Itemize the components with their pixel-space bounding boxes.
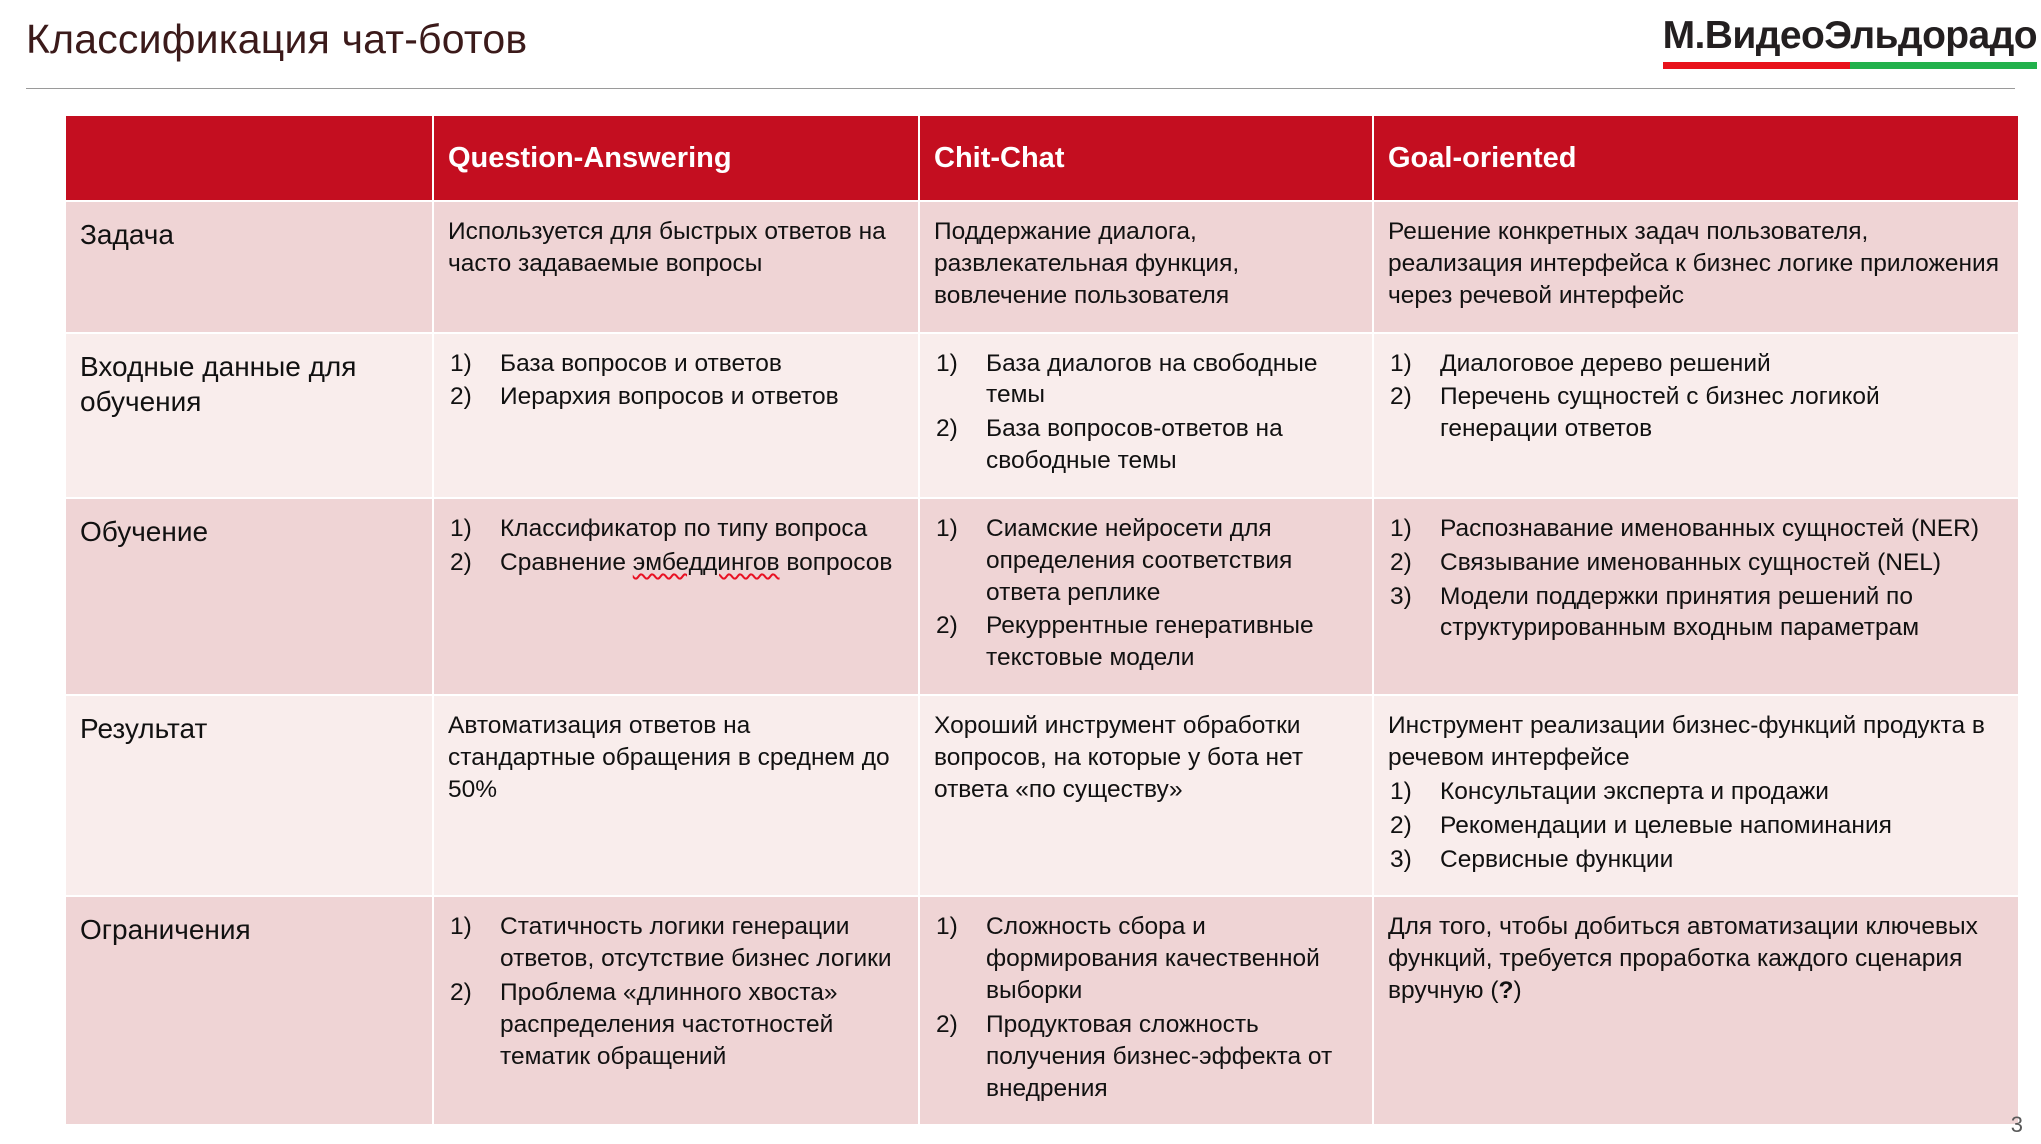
list-item-text: Связывание именованных сущностей (NEL): [1440, 549, 1941, 576]
row-label-2: Входные данные для обучения: [66, 334, 432, 497]
header-divider: [26, 88, 2015, 89]
list-item-marker: 1): [450, 513, 494, 545]
table-row: РезультатАвтоматизация ответов на станда…: [66, 696, 2018, 895]
list-item-text: Распознавание именованных сущностей (NER…: [1440, 515, 1979, 542]
brand-name: М.ВидеоЭльдорадо: [1663, 16, 2037, 55]
list-item-text: База вопросов и ответов: [500, 350, 782, 377]
list-item-text: Продуктовая сложность получения бизнес-э…: [986, 1011, 1332, 1102]
table-body: ЗадачаИспользуется для быстрых ответов н…: [66, 202, 2018, 1124]
list-item: 2)Рекуррентные генеративные текстовые мо…: [934, 610, 1358, 674]
list-item-text: Перечень сущностей с бизнес логикой гене…: [1440, 383, 1880, 442]
list-item: 1)Сиамские нейросети для определения соо…: [934, 513, 1358, 609]
list-item: 2)Продуктовая сложность получения бизнес…: [934, 1009, 1358, 1105]
list-item: 2)База вопросов-ответов на свободные тем…: [934, 413, 1358, 477]
comparison-table-container: Question-Answering Chit-Chat Goal-orient…: [64, 114, 2010, 1126]
cell-chit-chat-row4: Хороший инструмент обработки вопросов, н…: [920, 696, 1372, 895]
brand-bar-red-segment: [1663, 62, 1850, 69]
column-header-chit-chat: Chit-Chat: [920, 116, 1372, 200]
list-item-marker: 1): [1390, 348, 1434, 380]
chatbot-classification-table: Question-Answering Chit-Chat Goal-orient…: [64, 114, 2020, 1126]
list-item-marker: 3): [1390, 581, 1434, 613]
numbered-list: 1)Диалоговое дерево решений2)Перечень су…: [1388, 348, 2004, 446]
list-item-marker: 2): [450, 547, 494, 579]
list-item-marker: 1): [1390, 513, 1434, 545]
cell-chit-chat-row5: 1)Сложность сбора и формирования качеств…: [920, 897, 1372, 1124]
list-item-marker: 1): [936, 348, 980, 380]
list-item-text: Рекуррентные генеративные текстовые моде…: [986, 612, 1314, 671]
list-item-marker: 2): [936, 413, 980, 445]
row-label-1: Задача: [66, 202, 432, 332]
list-item-marker: 2): [936, 1009, 980, 1041]
cell-chit-chat-row3: 1)Сиамские нейросети для определения соо…: [920, 499, 1372, 694]
list-item-text: Классификатор по типу вопроса: [500, 515, 867, 542]
column-header-goal-oriented: Goal-oriented: [1374, 116, 2018, 200]
list-item: 1)Консультации эксперта и продажи: [1388, 776, 2004, 808]
list-item-marker: 2): [936, 610, 980, 642]
list-item: 3)Сервисные функции: [1388, 844, 2004, 876]
cell-goal-oriented-row4: Инструмент реализации бизнес-функций про…: [1374, 696, 2018, 895]
numbered-list: 1)База вопросов и ответов2)Иерархия вопр…: [448, 348, 904, 414]
brand-logo: М.ВидеоЭльдорадо: [1663, 16, 2037, 69]
list-item-marker: 2): [1390, 381, 1434, 413]
cell-paragraph: Решение конкретных задач пользователя, р…: [1388, 216, 2004, 312]
list-item: 1)База диалогов на свободные темы: [934, 348, 1358, 412]
cell-paragraph: Используется для быстрых ответов на част…: [448, 216, 904, 280]
list-item-marker: 1): [1390, 776, 1434, 808]
list-item: 2)Сравнение эмбеддингов вопросов: [448, 547, 904, 579]
numbered-list: 1)Консультации эксперта и продажи2)Реком…: [1388, 776, 2004, 876]
list-item-marker: 3): [1390, 844, 1434, 876]
numbered-list: 1)Сиамские нейросети для определения соо…: [934, 513, 1358, 674]
list-item: 2)Проблема «длинного хвоста» распределен…: [448, 977, 904, 1073]
list-item-text: Проблема «длинного хвоста» распределения…: [500, 979, 837, 1070]
list-item: 2)Иерархия вопросов и ответов: [448, 381, 904, 413]
list-item-text: Сиамские нейросети для определения соотв…: [986, 515, 1292, 606]
table-header-row: Question-Answering Chit-Chat Goal-orient…: [66, 116, 2018, 200]
cell-paragraph: Поддержание диалога, развлекательная фун…: [934, 216, 1358, 312]
list-item: 3)Модели поддержки принятия решений по с…: [1388, 581, 2004, 645]
cell-question-answering-row2: 1)База вопросов и ответов2)Иерархия вопр…: [434, 334, 918, 497]
list-item-marker: 2): [1390, 547, 1434, 579]
list-item: 2)Перечень сущностей с бизнес логикой ге…: [1388, 381, 2004, 445]
cell-question-answering-row4: Автоматизация ответов на стандартные обр…: [434, 696, 918, 895]
numbered-list: 1)Распознавание именованных сущностей (N…: [1388, 513, 2004, 644]
list-item: 1)Сложность сбора и формирования качеств…: [934, 911, 1358, 1007]
cell-chit-chat-row2: 1)База диалогов на свободные темы2)База …: [920, 334, 1372, 497]
list-item-text: Статичность логики генерации ответов, от…: [500, 913, 892, 972]
question-mark-emphasis: ?: [1499, 977, 1514, 1004]
slide-header: Классификация чат-ботов М.ВидеоЭльдорадо: [0, 0, 2041, 108]
table-row: ЗадачаИспользуется для быстрых ответов н…: [66, 202, 2018, 332]
list-item-text: База диалогов на свободные темы: [986, 350, 1318, 409]
table-row: Ограничения1)Статичность логики генераци…: [66, 897, 2018, 1124]
table-row: Обучение1)Классификатор по типу вопроса2…: [66, 499, 2018, 694]
list-item-text: База вопросов-ответов на свободные темы: [986, 415, 1283, 474]
numbered-list: 1)База диалогов на свободные темы2)База …: [934, 348, 1358, 477]
list-item-marker: 2): [450, 381, 494, 413]
numbered-list: 1)Статичность логики генерации ответов, …: [448, 911, 904, 1072]
misspelled-word: эмбеддингов: [633, 549, 780, 576]
list-item: 1)Диалоговое дерево решений: [1388, 348, 2004, 380]
table-row: Входные данные для обучения1)База вопрос…: [66, 334, 2018, 497]
brand-bar-green-segment: [1850, 62, 2037, 69]
row-label-3: Обучение: [66, 499, 432, 694]
list-item-text: Диалоговое дерево решений: [1440, 350, 1771, 377]
list-item-text: Рекомендации и целевые напоминания: [1440, 812, 1892, 839]
list-item-text: Иерархия вопросов и ответов: [500, 383, 839, 410]
cell-paragraph: Автоматизация ответов на стандартные обр…: [448, 710, 904, 806]
cell-question-answering-row3: 1)Классификатор по типу вопроса2)Сравнен…: [434, 499, 918, 694]
list-item-text: Сравнение эмбеддингов вопросов: [500, 549, 892, 576]
numbered-list: 1)Классификатор по типу вопроса2)Сравнен…: [448, 513, 904, 579]
cell-goal-oriented-row5: Для того, чтобы добиться автоматизации к…: [1374, 897, 2018, 1124]
cell-goal-oriented-row3: 1)Распознавание именованных сущностей (N…: [1374, 499, 2018, 694]
list-item-text: Консультации эксперта и продажи: [1440, 778, 1829, 805]
column-header-question-answering: Question-Answering: [434, 116, 918, 200]
page-title: Классификация чат-ботов: [26, 16, 527, 63]
list-item-text: Сложность сбора и формирования качествен…: [986, 913, 1320, 1004]
cell-paragraph: Хороший инструмент обработки вопросов, н…: [934, 710, 1358, 806]
list-item-text: Сервисные функции: [1440, 846, 1673, 873]
list-item-marker: 1): [936, 513, 980, 545]
list-item-marker: 2): [1390, 810, 1434, 842]
brand-underline-bar: [1663, 62, 2037, 69]
cell-paragraph: Инструмент реализации бизнес-функций про…: [1388, 710, 2004, 774]
list-item-marker: 1): [450, 348, 494, 380]
list-item: 1)Статичность логики генерации ответов, …: [448, 911, 904, 975]
list-item: 1)База вопросов и ответов: [448, 348, 904, 380]
list-item-marker: 2): [450, 977, 494, 1009]
list-item: 1)Распознавание именованных сущностей (N…: [1388, 513, 2004, 545]
page-number: 3: [2011, 1112, 2023, 1138]
cell-paragraph: Для того, чтобы добиться автоматизации к…: [1388, 911, 2004, 1007]
list-item-marker: 1): [936, 911, 980, 943]
cell-question-answering-row5: 1)Статичность логики генерации ответов, …: [434, 897, 918, 1124]
cell-question-answering-row1: Используется для быстрых ответов на част…: [434, 202, 918, 332]
cell-goal-oriented-row2: 1)Диалоговое дерево решений2)Перечень су…: [1374, 334, 2018, 497]
cell-chit-chat-row1: Поддержание диалога, развлекательная фун…: [920, 202, 1372, 332]
row-label-4: Результат: [66, 696, 432, 895]
numbered-list: 1)Сложность сбора и формирования качеств…: [934, 911, 1358, 1104]
list-item-marker: 1): [450, 911, 494, 943]
list-item: 2)Связывание именованных сущностей (NEL): [1388, 547, 2004, 579]
list-item-text: Модели поддержки принятия решений по стр…: [1440, 583, 1919, 642]
list-item: 1)Классификатор по типу вопроса: [448, 513, 904, 545]
cell-goal-oriented-row1: Решение конкретных задач пользователя, р…: [1374, 202, 2018, 332]
list-item: 2)Рекомендации и целевые напоминания: [1388, 810, 2004, 842]
column-header-blank: [66, 116, 432, 200]
row-label-5: Ограничения: [66, 897, 432, 1124]
